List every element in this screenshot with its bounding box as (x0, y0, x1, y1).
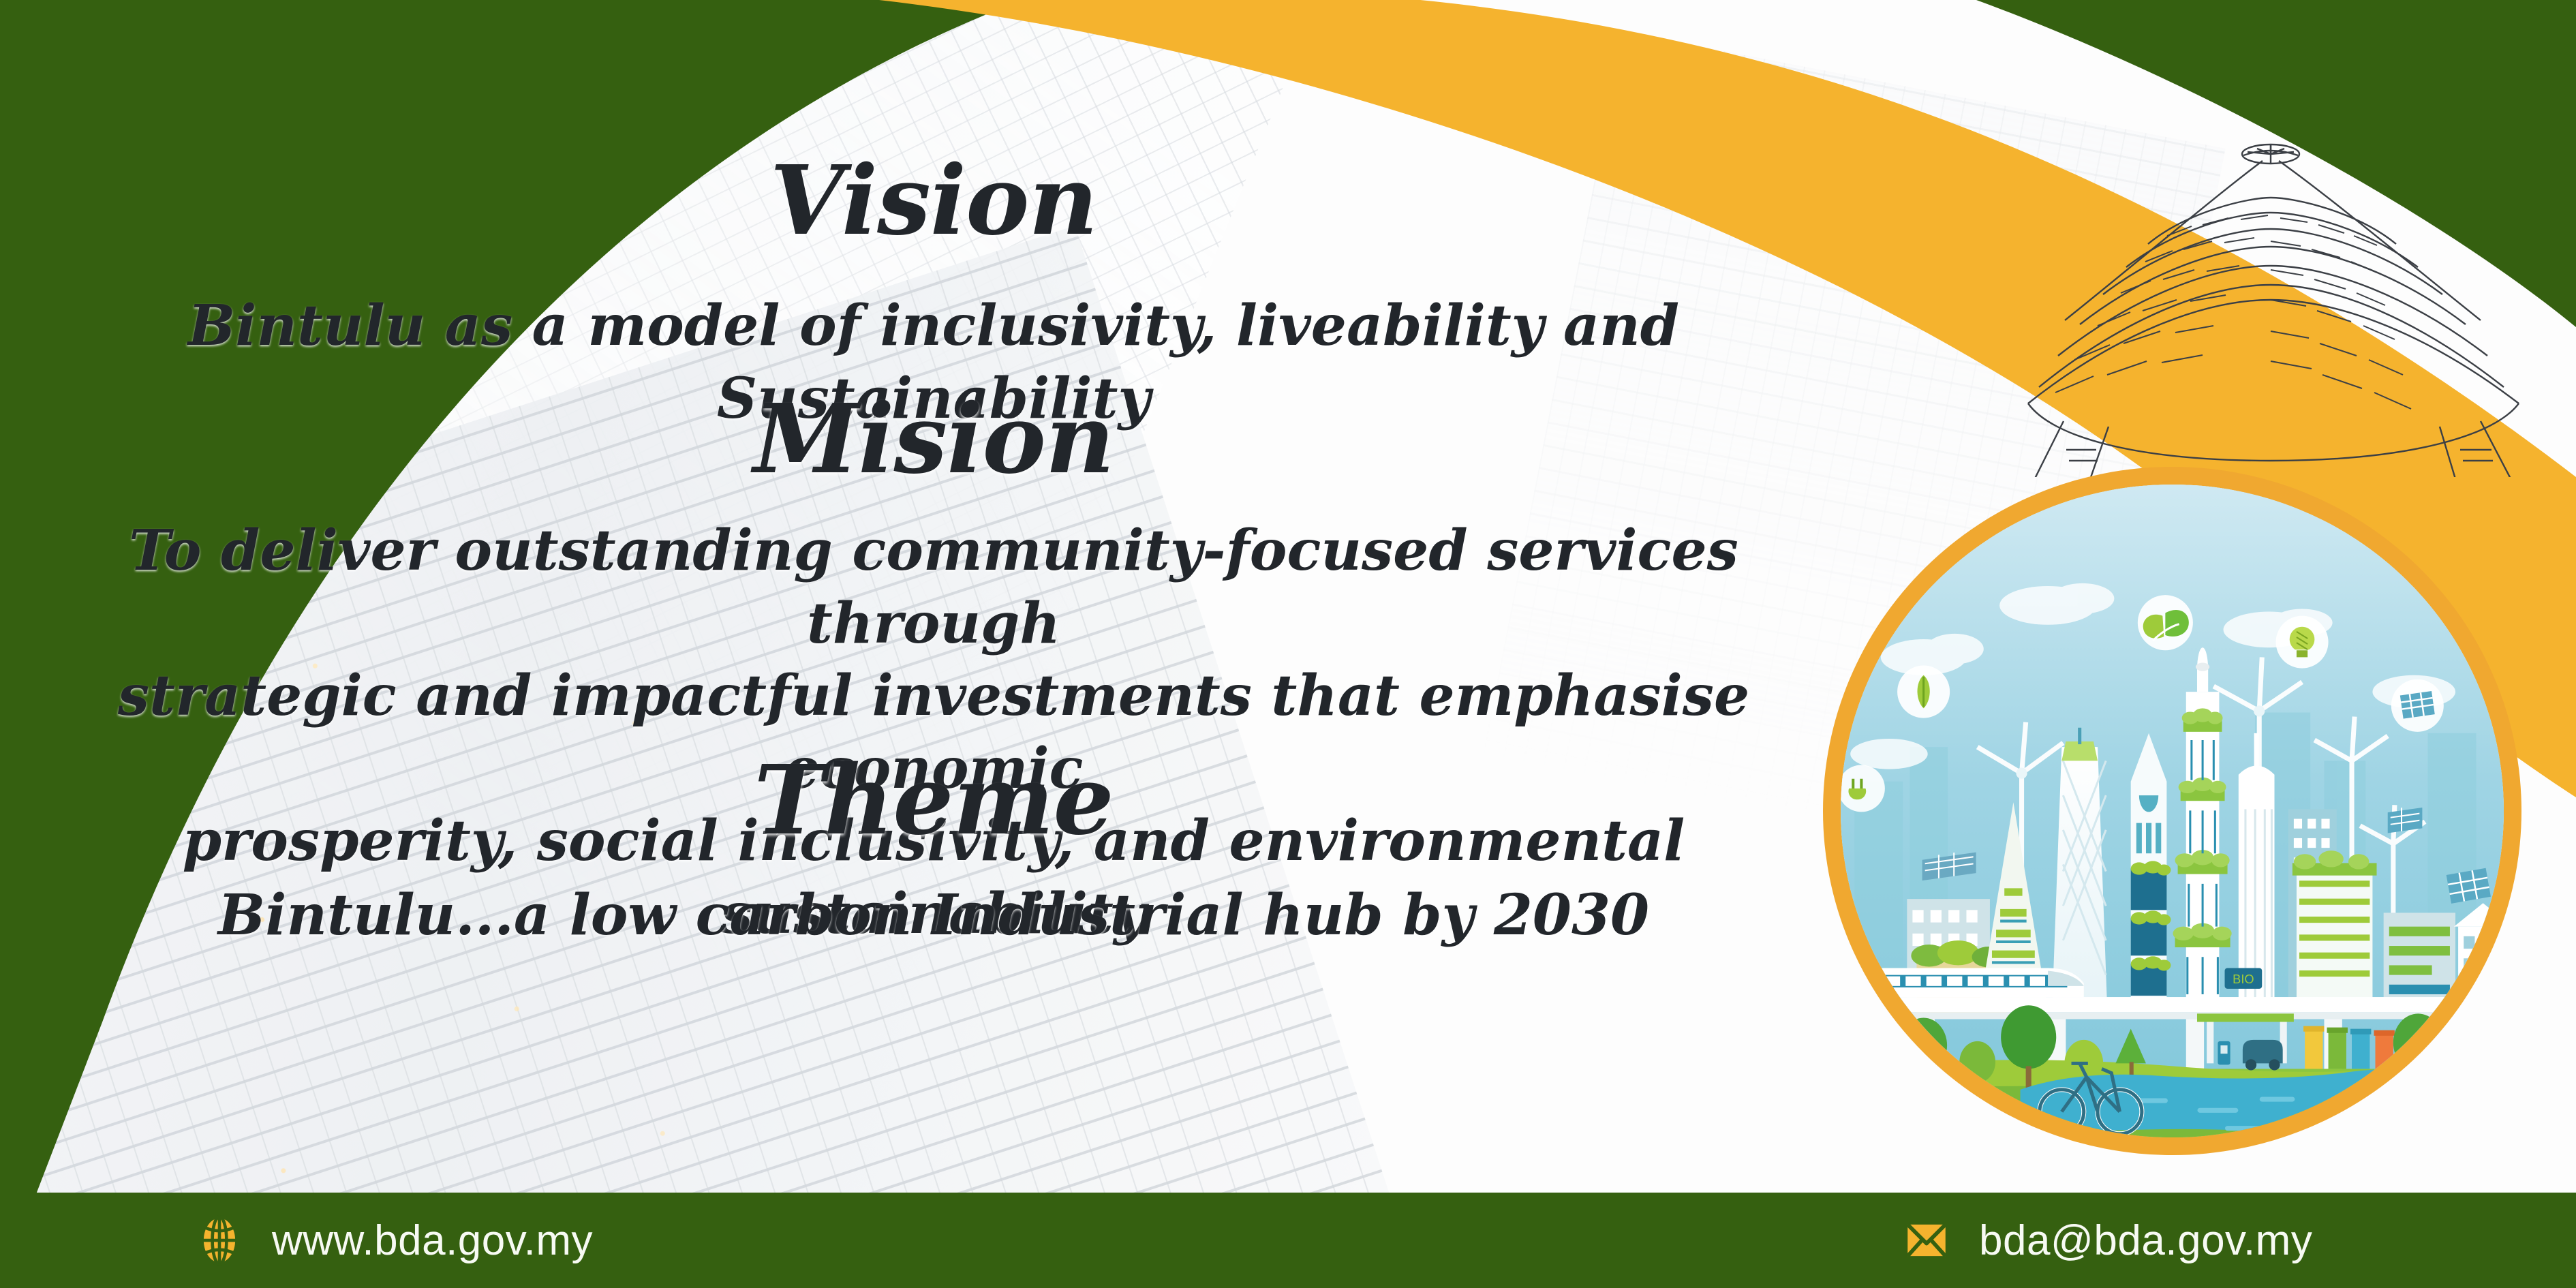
city-circle: BIO (1823, 467, 2521, 1155)
bio-sign: BIO (2225, 968, 2263, 988)
dome-building-illustration (1963, 95, 2576, 477)
green-striped-tower (2293, 850, 2377, 1009)
banner-root: Vision Bintulu as a model of inclusivity… (0, 0, 2576, 1288)
footer-website[interactable]: www.bda.gov.my (194, 1215, 593, 1266)
footer-email-label: bda@bda.gov.my (1979, 1216, 2312, 1265)
footer-email[interactable]: bda@bda.gov.my (1901, 1215, 2312, 1266)
sustainable-city-illustration: BIO (1841, 485, 2504, 1137)
footer-website-label: www.bda.gov.my (272, 1216, 593, 1265)
envelope-icon (1901, 1215, 1952, 1266)
footer-bar: www.bda.gov.my bda@bda.gov.my (0, 1193, 2576, 1288)
city-circle-clip: BIO (1841, 485, 2504, 1137)
green-wedge-left (0, 0, 1022, 1288)
electric-train (1854, 968, 2083, 997)
globe-icon (194, 1215, 245, 1266)
svg-text:BIO: BIO (2233, 972, 2254, 986)
